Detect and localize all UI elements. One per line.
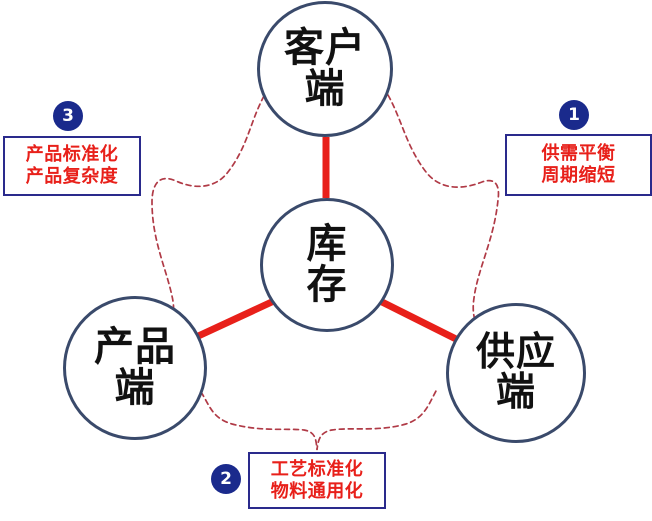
badge-2: 2 <box>211 464 241 494</box>
callout-3-line-1: 产品标准化 <box>26 144 119 166</box>
callout-2-line-2: 物料通用化 <box>271 481 364 503</box>
node-customer-label: 客户 端 <box>284 28 366 110</box>
node-supply-label: 供应 端 <box>476 333 556 413</box>
connector-inventory-supply <box>380 301 458 340</box>
callout-1-line-1: 供需平衡 <box>542 143 616 165</box>
callout-2-line-1: 工艺标准化 <box>271 459 364 481</box>
callout-3[interactable]: 产品标准化 产品复杂度 <box>3 136 141 196</box>
node-product-label: 产品 端 <box>94 327 176 409</box>
node-supply[interactable]: 供应 端 <box>446 303 586 443</box>
callout-1-line-2: 周期缩短 <box>542 165 616 187</box>
connector-inventory-product <box>194 300 276 338</box>
node-inventory-label: 库 存 <box>307 224 348 306</box>
callout-3-line-2: 产品复杂度 <box>26 166 119 188</box>
node-product[interactable]: 产品 端 <box>63 296 207 440</box>
badge-3: 3 <box>53 101 83 131</box>
callout-2[interactable]: 工艺标准化 物料通用化 <box>248 452 386 509</box>
diagram-canvas: 客户 端 库 存 产品 端 供应 端 3 产品标准化 产品复杂度 1 供需平衡 … <box>0 0 652 521</box>
callout-1[interactable]: 供需平衡 周期缩短 <box>505 134 652 196</box>
node-customer[interactable]: 客户 端 <box>257 1 393 137</box>
brace-bottom <box>201 391 436 450</box>
badge-1: 1 <box>559 100 589 130</box>
node-inventory[interactable]: 库 存 <box>260 198 394 332</box>
